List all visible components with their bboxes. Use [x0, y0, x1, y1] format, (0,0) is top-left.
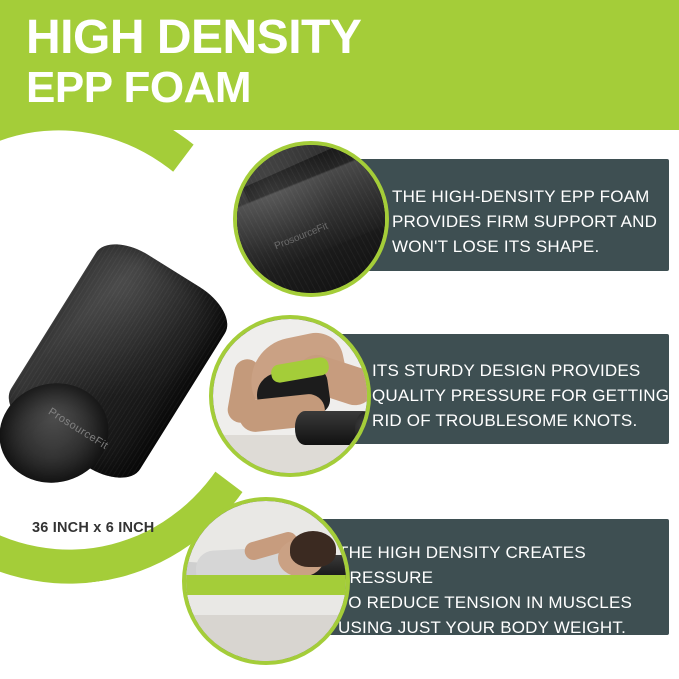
feature-2-line-2: QUALITY PRESSURE FOR GETTING	[372, 383, 672, 408]
product-infographic: HIGH DENSITY EPP FOAM ProsourceFit 36 IN…	[0, 0, 679, 679]
product-size-label: 36 INCH x 6 INCH	[32, 520, 154, 536]
feature-3-line-2: TO REDUCE TENSION IN MUSCLES	[338, 590, 668, 615]
header-banner: HIGH DENSITY EPP FOAM	[0, 0, 679, 130]
feature-1-line-3: WON'T LOSE ITS SHAPE.	[392, 234, 672, 259]
feature-1-line-2: PROVIDES FIRM SUPPORT AND	[392, 209, 672, 234]
feature-3-line-3: USING JUST YOUR BODY WEIGHT.	[338, 615, 668, 640]
foam-roller-product-image: ProsourceFit	[8, 255, 204, 491]
feature-3-text: THE HIGH DENSITY CREATES PRESSURE TO RED…	[338, 540, 668, 640]
foam-closeup-texture	[237, 145, 385, 293]
banner-title-line2: EPP FOAM	[26, 66, 251, 110]
feature-3-line-1: THE HIGH DENSITY CREATES PRESSURE	[338, 540, 668, 590]
feature-2-image-bubble	[209, 315, 371, 477]
lying-photo-green-mat	[182, 575, 350, 595]
feature-2-text: ITS STURDY DESIGN PROVIDES QUALITY PRESS…	[372, 358, 672, 433]
feature-1-image-bubble: ProsourceFit	[233, 141, 389, 297]
lying-photo-floor	[186, 615, 346, 661]
lying-photo-hair	[290, 531, 336, 567]
feature-1-text: THE HIGH-DENSITY EPP FOAM PROVIDES FIRM …	[392, 184, 672, 259]
banner-title-line1: HIGH DENSITY	[26, 14, 361, 62]
feature-2-line-1: ITS STURDY DESIGN PROVIDES	[372, 358, 672, 383]
feature-2-line-3: RID OF TROUBLESOME KNOTS.	[372, 408, 672, 433]
feature-3-image-bubble	[182, 497, 350, 665]
feature-1-line-1: THE HIGH-DENSITY EPP FOAM	[392, 184, 672, 209]
